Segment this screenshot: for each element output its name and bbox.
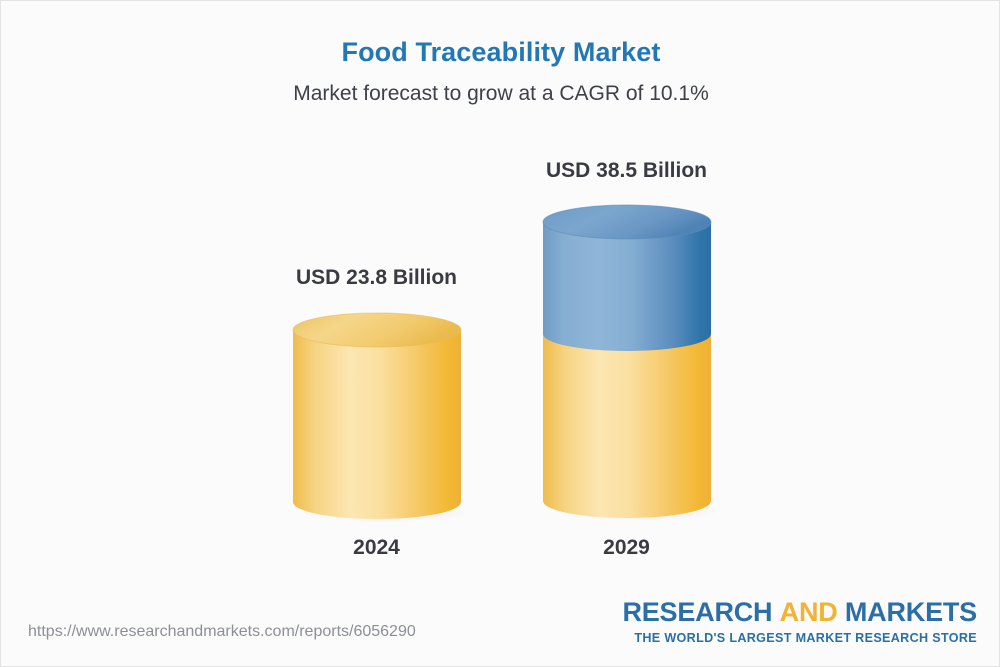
chart-canvas: Food Traceability Market Market forecast… — [0, 0, 1000, 667]
value-label-2029: USD 38.5 Billion — [529, 159, 724, 183]
value-label-2024: USD 23.8 Billion — [279, 266, 474, 290]
cylinder-2024-svg — [289, 312, 465, 523]
bar-group-2029: USD 38.5 Billion — [529, 159, 724, 571]
source-url[interactable]: https://www.researchandmarkets.com/repor… — [28, 623, 416, 641]
plot-area: USD 23.8 Billion — [1, 1, 1000, 667]
category-label-2024: 2024 — [279, 536, 474, 560]
cylinder-2024 — [289, 312, 465, 523]
logo-word-research: RESEARCH — [622, 597, 772, 627]
cylinder-2029 — [539, 204, 715, 522]
logo-word-markets: MARKETS — [845, 597, 977, 627]
logo-wordmark: RESEARCH AND MARKETS — [622, 599, 977, 626]
cylinder-2029-svg — [539, 204, 715, 522]
bar-group-2024: USD 23.8 Billion — [279, 266, 474, 571]
category-label-2029: 2029 — [529, 536, 724, 560]
research-and-markets-logo[interactable]: RESEARCH AND MARKETS THE WORLD'S LARGEST… — [622, 599, 977, 645]
logo-tagline: THE WORLD'S LARGEST MARKET RESEARCH STOR… — [622, 632, 977, 645]
logo-word-and: AND — [780, 597, 838, 627]
